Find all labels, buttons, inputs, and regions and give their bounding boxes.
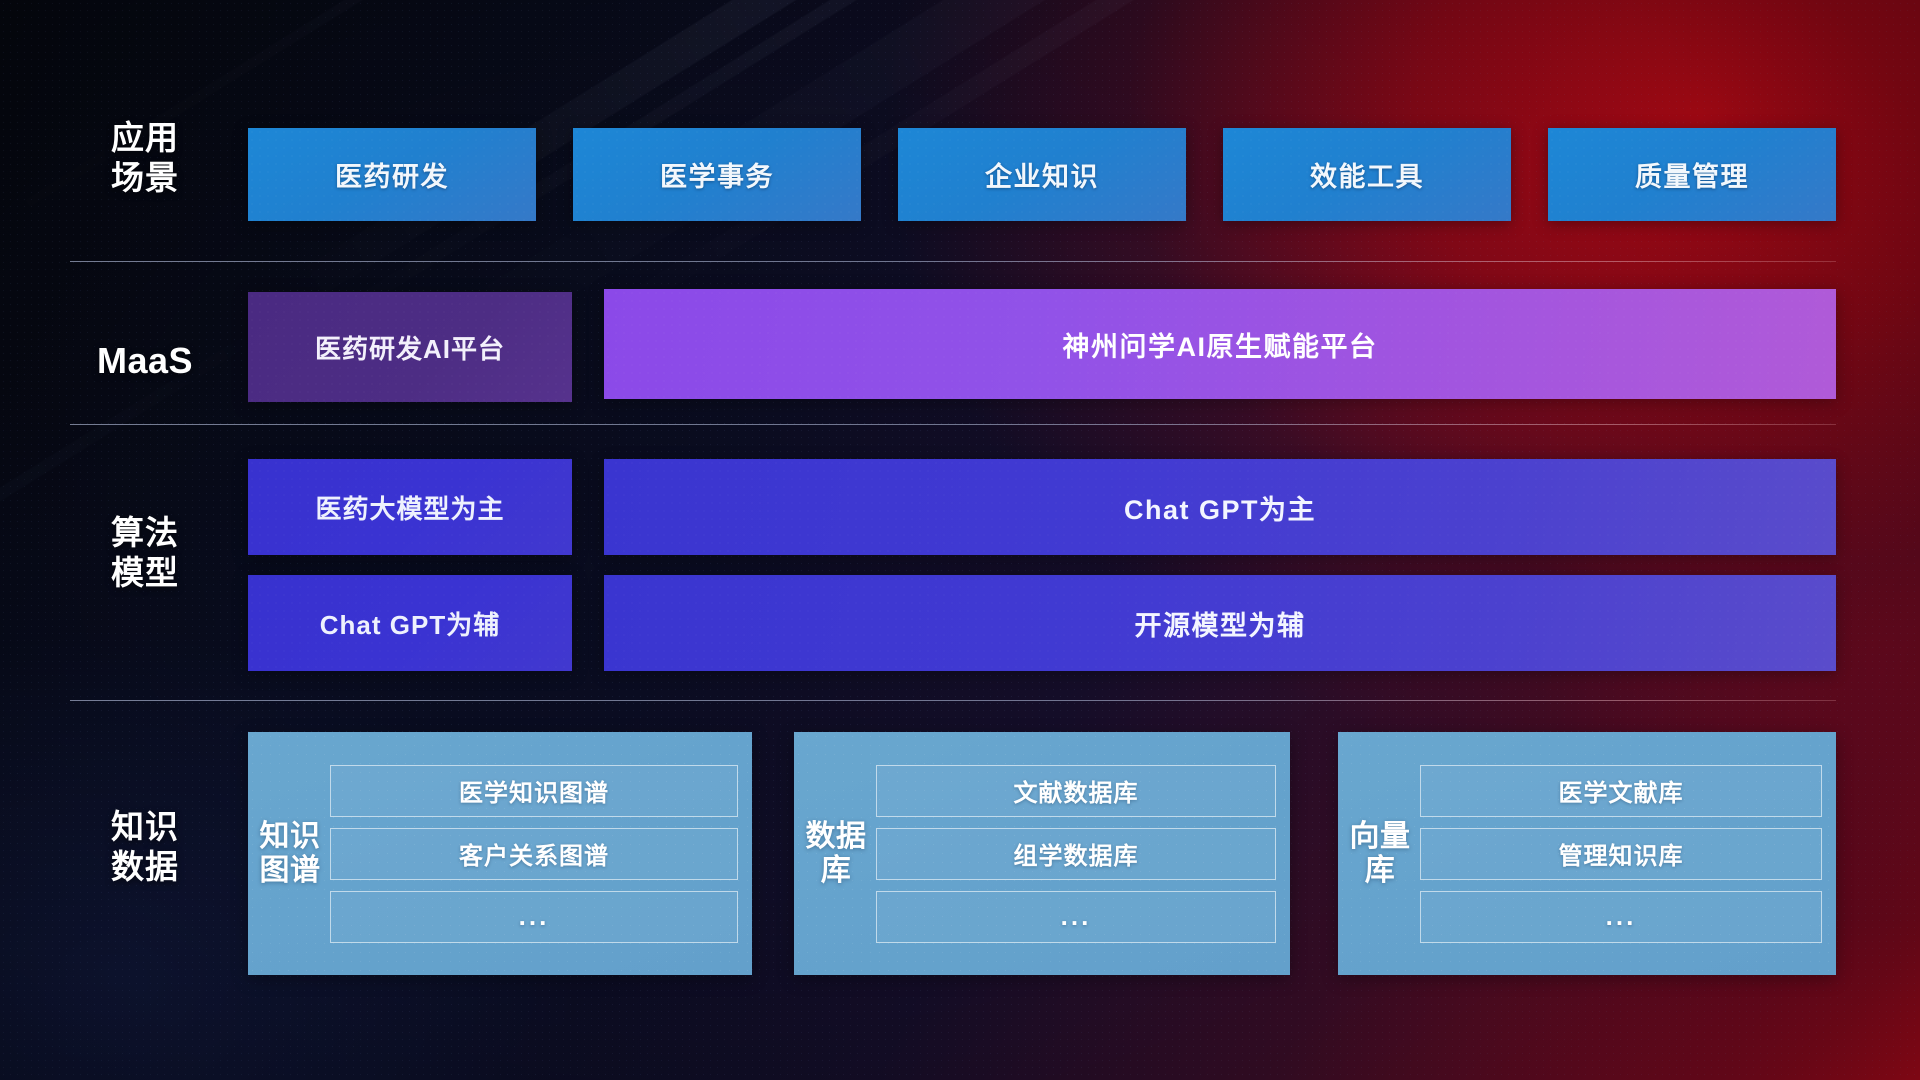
app-card-label: 企业知识 [985, 155, 1099, 194]
knowledge-item-list: 医学文献库 管理知识库 ... [1412, 765, 1822, 943]
knowledge-block-vertical-label: 知​识​图​谱 [258, 820, 322, 887]
maas-left-label: 医药研发AI平台 [315, 329, 505, 366]
knowledge-item[interactable]: 管理知识库 [1420, 828, 1822, 880]
maas-platform-shenzhou-wenxue[interactable]: 神州问学AI原生赋能平台 [604, 289, 1836, 399]
tier-label-algorithm-model: 算法 模型 [70, 513, 220, 594]
app-card-label: 医学事务 [660, 155, 774, 194]
diagram-canvas: 应用 场景 医药研发 医学事务 企业知识 效能工具 质量管理 MaaS 医药研发… [0, 0, 1920, 1080]
knowledge-block-vertical-label: 数​据​库 [804, 820, 868, 887]
tier-label-maas: MaaS [70, 339, 220, 383]
knowledge-item[interactable]: 医学文献库 [1420, 765, 1822, 817]
tier-label-application: 应用 场景 [70, 118, 220, 199]
maas-platform-drug-rd[interactable]: 医药研发AI平台 [248, 292, 572, 402]
model-left-pharma-llm-primary[interactable]: 医药大模型为主 [248, 459, 572, 555]
app-card-enterprise-knowledge[interactable]: 企业知识 [898, 128, 1186, 221]
model-left-chatgpt-secondary[interactable]: Chat GPT为辅 [248, 575, 572, 671]
tier-divider-1 [70, 261, 1836, 262]
knowledge-block-graph[interactable]: 知​识​图​谱 医学知识图谱 客户关系图谱 ... [248, 732, 752, 975]
knowledge-item-more[interactable]: ... [330, 891, 738, 943]
model-label: 开源模型为辅 [1135, 604, 1306, 643]
knowledge-block-database[interactable]: 数​据​库 文献数据库 组学数据库 ... [794, 732, 1290, 975]
model-right-opensource-secondary[interactable]: 开源模型为辅 [604, 575, 1836, 671]
knowledge-item[interactable]: 医学知识图谱 [330, 765, 738, 817]
maas-right-label: 神州问学AI原生赋能平台 [1063, 325, 1378, 364]
app-card-label: 医药研发 [335, 155, 449, 194]
knowledge-block-vector[interactable]: 向​量​库 医学文献库 管理知识库 ... [1338, 732, 1836, 975]
tier-divider-2 [70, 424, 1836, 425]
model-right-chatgpt-primary[interactable]: Chat GPT为主 [604, 459, 1836, 555]
app-card-medical-affairs[interactable]: 医学事务 [573, 128, 861, 221]
knowledge-item[interactable]: 文献数据库 [876, 765, 1276, 817]
knowledge-item-list: 文献数据库 组学数据库 ... [868, 765, 1276, 943]
app-card-quality-management[interactable]: 质量管理 [1548, 128, 1836, 221]
app-card-efficiency-tools[interactable]: 效能工具 [1223, 128, 1511, 221]
knowledge-item-list: 医学知识图谱 客户关系图谱 ... [322, 765, 738, 943]
model-label: Chat GPT为辅 [320, 605, 500, 642]
app-card-label: 效能工具 [1310, 155, 1424, 194]
model-label: 医药大模型为主 [315, 489, 504, 526]
knowledge-item-more[interactable]: ... [876, 891, 1276, 943]
knowledge-item[interactable]: 组学数据库 [876, 828, 1276, 880]
model-label: Chat GPT为主 [1124, 488, 1316, 527]
app-card-label: 质量管理 [1635, 155, 1749, 194]
tier-divider-3 [70, 700, 1836, 701]
knowledge-item-more[interactable]: ... [1420, 891, 1822, 943]
knowledge-block-vertical-label: 向​量​库 [1348, 820, 1412, 887]
tier-label-knowledge-data: 知识 数据 [70, 807, 220, 888]
knowledge-item[interactable]: 客户关系图谱 [330, 828, 738, 880]
app-card-drug-rd[interactable]: 医药研发 [248, 128, 536, 221]
tier-stack: 应用 场景 医药研发 医学事务 企业知识 效能工具 质量管理 MaaS 医药研发… [0, 0, 1920, 1080]
